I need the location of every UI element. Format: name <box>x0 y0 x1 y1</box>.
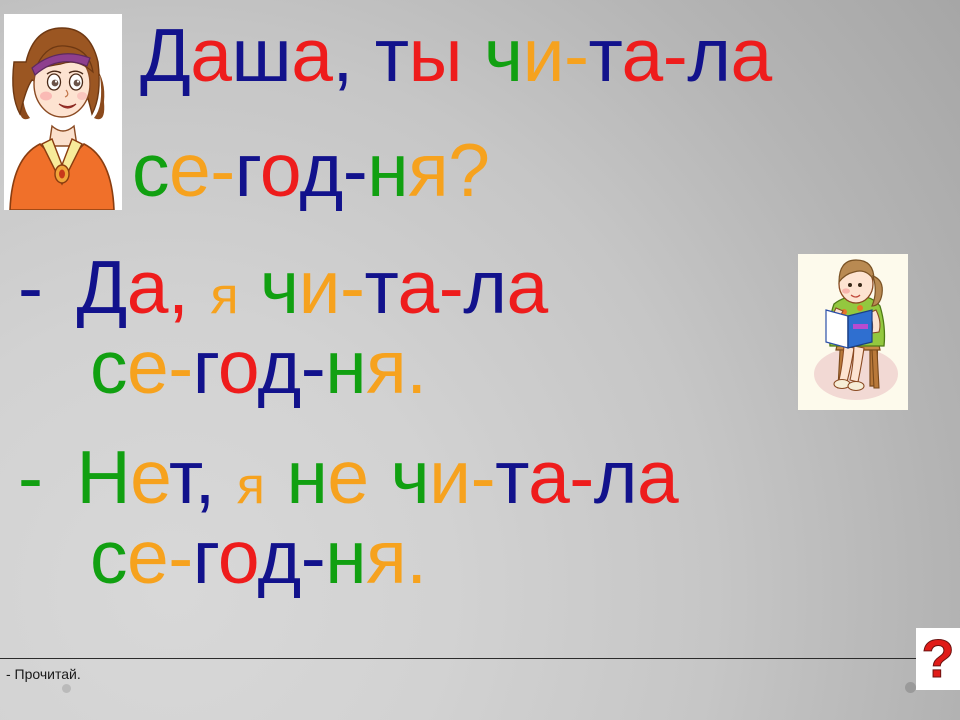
glyph: ч <box>391 435 430 519</box>
glyph: а <box>190 13 231 97</box>
glyph: н <box>367 128 408 212</box>
glyph: - <box>569 435 593 519</box>
glyph: а <box>622 13 663 97</box>
glyph: а <box>127 245 168 329</box>
glyph: , <box>168 245 188 329</box>
text-line-4: се-год-ня. <box>90 330 427 405</box>
glyph: - <box>18 245 42 329</box>
text-line-1: Даша,тычи-та-ла <box>140 18 772 93</box>
glyph: ы <box>409 13 462 97</box>
glyph: г <box>193 325 218 409</box>
glyph: - <box>663 13 687 97</box>
girl-portrait-illustration <box>4 14 122 210</box>
glyph: о <box>260 128 300 212</box>
text-line-2: се-год-ня? <box>132 133 490 208</box>
glyph: н <box>325 325 366 409</box>
glyph: а <box>291 13 332 97</box>
glyph: с <box>132 128 169 212</box>
glyph: е <box>169 128 210 212</box>
question-mark-badge[interactable]: ? <box>916 628 960 690</box>
glyph: т <box>169 435 195 519</box>
glyph: е <box>327 435 368 519</box>
glyph: г <box>193 515 218 599</box>
glyph: Д <box>140 13 190 97</box>
glyph: т <box>375 13 409 97</box>
footer-bullet-dot-left <box>62 684 71 693</box>
glyph: а <box>528 435 569 519</box>
glyph: , <box>194 435 214 519</box>
glyph: л <box>594 435 637 519</box>
glyph: н <box>325 515 366 599</box>
glyph: ч <box>260 245 299 329</box>
glyph: я <box>366 515 406 599</box>
glyph: т <box>495 435 528 519</box>
glyph: я <box>237 457 265 515</box>
glyph: я <box>366 325 406 409</box>
glyph: - <box>168 325 192 409</box>
glyph: о <box>218 515 258 599</box>
footer-divider <box>0 658 930 659</box>
glyph: а <box>730 13 771 97</box>
glyph: н <box>286 435 327 519</box>
glyph: - <box>210 128 234 212</box>
glyph: . <box>406 515 426 599</box>
glyph: т <box>588 13 621 97</box>
girl-reading-illustration <box>798 254 908 410</box>
glyph: и <box>429 435 470 519</box>
glyph: ч <box>484 13 523 97</box>
glyph: - <box>564 13 588 97</box>
glyph: т <box>364 245 397 329</box>
glyph: л <box>687 13 730 97</box>
glyph: , <box>332 13 352 97</box>
glyph: г <box>235 128 260 212</box>
glyph: - <box>340 245 364 329</box>
footer-bullet-dot-right <box>905 682 916 693</box>
glyph: ? <box>448 128 489 212</box>
glyph: - <box>439 245 463 329</box>
text-line-5: -Нет,янечи-та-ла <box>18 440 678 515</box>
glyph: д <box>258 325 301 409</box>
glyph: с <box>90 325 127 409</box>
glyph: . <box>406 325 426 409</box>
glyph: д <box>258 515 301 599</box>
text-line-3: -Да,ячи-та-ла <box>18 250 548 325</box>
glyph: Н <box>76 435 130 519</box>
glyph: ш <box>232 13 292 97</box>
glyph: я <box>408 128 448 212</box>
glyph: е <box>130 435 169 519</box>
glyph: д <box>300 128 343 212</box>
glyph: Д <box>76 245 126 329</box>
glyph: - <box>168 515 192 599</box>
glyph: а <box>506 245 547 329</box>
text-line-6: се-год-ня. <box>90 520 427 595</box>
glyph: - <box>301 515 325 599</box>
glyph: е <box>127 325 168 409</box>
glyph: - <box>18 435 42 519</box>
glyph: и <box>299 245 340 329</box>
glyph: я <box>210 267 238 325</box>
slide-canvas: Даша,тычи-та-ла се-год-ня? -Да,ячи-та-ла… <box>0 0 960 720</box>
glyph: - <box>471 435 495 519</box>
glyph: о <box>218 325 258 409</box>
glyph: с <box>90 515 127 599</box>
question-mark-icon: ? <box>922 632 955 686</box>
glyph: а <box>637 435 678 519</box>
glyph: - <box>301 325 325 409</box>
glyph: - <box>343 128 367 212</box>
glyph: а <box>398 245 439 329</box>
girl-portrait-image[interactable] <box>4 14 122 210</box>
footer-instruction-text: - Прочитай. <box>6 666 81 682</box>
glyph: и <box>523 13 564 97</box>
glyph: е <box>127 515 168 599</box>
glyph: л <box>463 245 506 329</box>
girl-reading-book-image[interactable] <box>798 254 908 410</box>
